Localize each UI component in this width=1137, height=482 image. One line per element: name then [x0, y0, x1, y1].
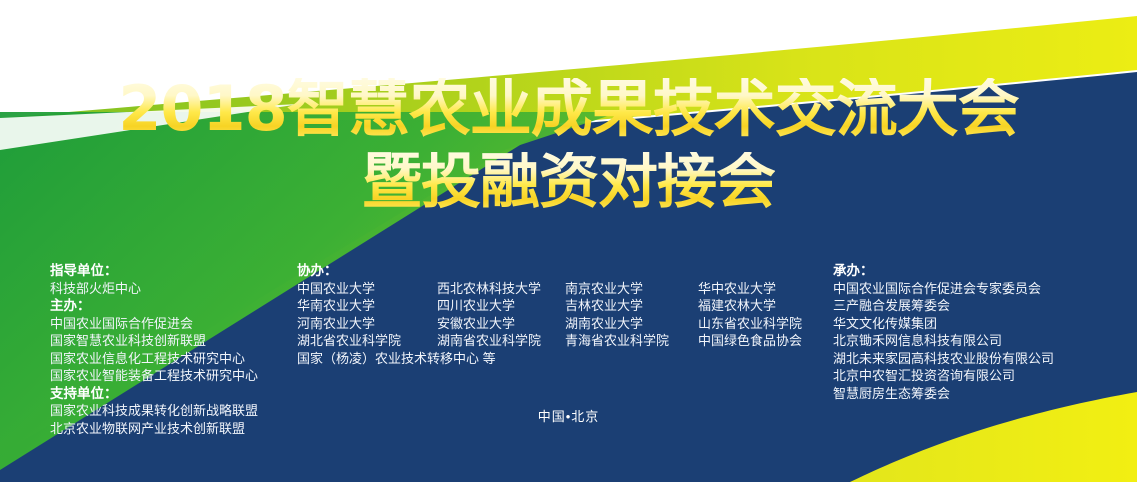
coorganizer-cell: 山东省农业科学院 [698, 315, 802, 333]
host-item: 三产融合发展筹委会 [833, 297, 1133, 315]
organizer-item: 国家农业信息化工程技术研究中心 [50, 350, 300, 368]
host-item: 北京锄禾网信息科技有限公司 [833, 332, 1133, 350]
organizer-item: 国家智慧农业科技创新联盟 [50, 332, 300, 350]
coorganizer-cell: 吉林农业大学 [565, 297, 698, 315]
coorganizer-tail: 国家（杨凌）农业技术转移中心 等 [297, 350, 827, 368]
coorganizer-cell: 河南农业大学 [297, 315, 437, 333]
coorganizer-cell: 安徽农业大学 [437, 315, 565, 333]
host-item: 智慧厨房生态筹委会 [833, 385, 1133, 403]
coorganizer-cell: 华中农业大学 [698, 280, 776, 298]
coorganizer-cell: 南京农业大学 [565, 280, 698, 298]
host-heading: 承办： [833, 262, 1133, 280]
coorganizer-cell: 中国农业大学 [297, 280, 437, 298]
coorganizer-cell: 西北农林科技大学 [437, 280, 565, 298]
column-right-hosts: 承办： 中国农业国际合作促进会专家委员会 三产融合发展筹委会 华文文化传媒集团 … [833, 262, 1133, 402]
coorganizer-cell: 中国绿色食品协会 [698, 332, 802, 350]
supporter-heading: 支持单位： [50, 385, 300, 403]
guidance-heading: 指导单位： [50, 262, 300, 280]
organizer-item: 中国农业国际合作促进会 [50, 315, 300, 333]
host-item: 中国农业国际合作促进会专家委员会 [833, 280, 1133, 298]
coorganizer-row: 河南农业大学 安徽农业大学 湖南农业大学 山东省农业科学院 [297, 315, 827, 333]
coorganizer-heading: 协办： [297, 262, 827, 280]
coorganizer-cell: 湖南农业大学 [565, 315, 698, 333]
coorganizer-cell: 华南农业大学 [297, 297, 437, 315]
coorganizer-row: 湖北省农业科学院 湖南省农业科学院 青海省农业科学院 中国绿色食品协会 [297, 332, 827, 350]
column-middle-coorganizers: 协办： 中国农业大学 西北农林科技大学 南京农业大学 华中农业大学 华南农业大学… [297, 262, 827, 367]
coorganizer-row: 华南农业大学 四川农业大学 吉林农业大学 福建农林大学 [297, 297, 827, 315]
organizer-heading: 主办： [50, 297, 300, 315]
coorganizer-cell: 湖南省农业科学院 [437, 332, 565, 350]
coorganizer-cell: 青海省农业科学院 [565, 332, 698, 350]
coorganizer-cell: 四川农业大学 [437, 297, 565, 315]
host-item: 湖北未来家园高科技农业股份有限公司 [833, 350, 1133, 368]
coorganizer-row: 中国农业大学 西北农林科技大学 南京农业大学 华中农业大学 [297, 280, 827, 298]
venue-label: 中国•北京 [0, 406, 1137, 425]
guidance-item: 科技部火炬中心 [50, 280, 300, 298]
host-item: 北京中农智汇投资咨询有限公司 [833, 367, 1133, 385]
conference-banner: 2018智慧农业成果技术交流大会 2018智慧农业成果技术交流大会 暨投融资对接… [0, 0, 1137, 482]
coorganizer-cell: 湖北省农业科学院 [297, 332, 437, 350]
host-item: 华文文化传媒集团 [833, 315, 1133, 333]
organizer-item: 国家农业智能装备工程技术研究中心 [50, 367, 300, 385]
coorganizer-cell: 福建农林大学 [698, 297, 776, 315]
